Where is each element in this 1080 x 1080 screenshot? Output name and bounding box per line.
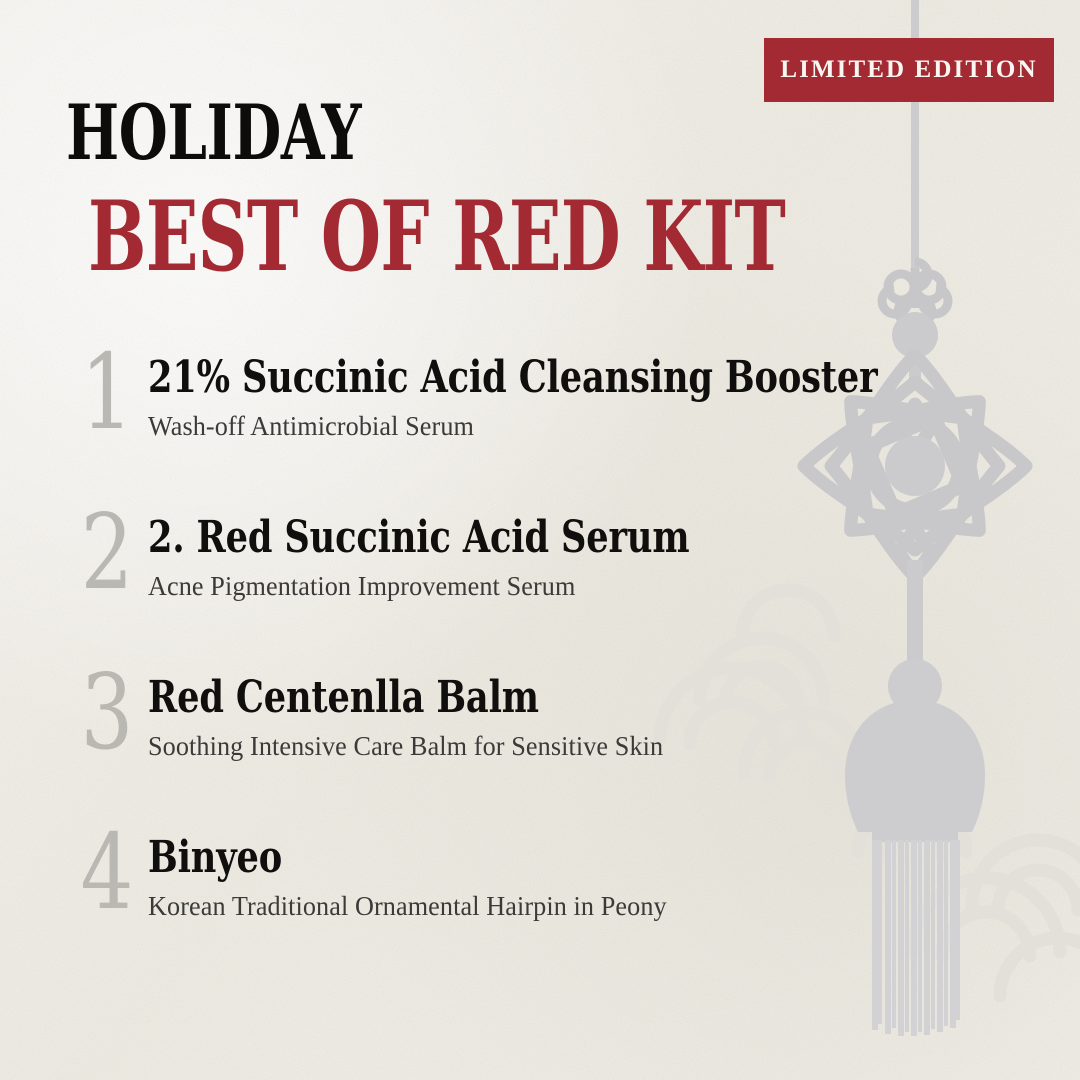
- page-title: HOLIDAY BEST OF RED KIT: [66, 96, 1056, 285]
- product-list: 1 21% Succinic Acid Cleansing Booster Wa…: [0, 336, 900, 976]
- item-subtitle: Acne Pigmentation Improvement Serum: [148, 570, 877, 602]
- list-item: 4 Binyeo Korean Traditional Ornamental H…: [0, 816, 900, 976]
- item-number: 3: [79, 660, 135, 764]
- title-line-main: BEST OF RED KIT: [88, 190, 785, 284]
- item-subtitle: Wash-off Antimicrobial Serum: [148, 410, 877, 442]
- list-item: 2 2. Red Succinic Acid Serum Acne Pigmen…: [0, 496, 900, 656]
- item-number: 2: [79, 500, 135, 604]
- list-item: 3 Red Centenlla Balm Soothing Intensive …: [0, 656, 900, 816]
- item-number: 4: [79, 820, 135, 924]
- item-title: Red Centenlla Balm: [148, 656, 750, 722]
- item-subtitle: Korean Traditional Ornamental Hairpin in…: [148, 890, 877, 922]
- item-title: 2. Red Succinic Acid Serum: [148, 496, 750, 562]
- title-line-holiday: HOLIDAY: [66, 96, 799, 170]
- item-number: 1: [79, 340, 135, 444]
- item-title: Binyeo: [148, 816, 750, 882]
- item-subtitle: Soothing Intensive Care Balm for Sensiti…: [148, 730, 877, 762]
- list-item: 1 21% Succinic Acid Cleansing Booster Wa…: [0, 336, 900, 496]
- item-title: 21% Succinic Acid Cleansing Booster: [148, 336, 750, 402]
- limited-edition-badge: LIMITED EDITION: [764, 38, 1054, 102]
- badge-label: LIMITED EDITION: [780, 56, 1037, 84]
